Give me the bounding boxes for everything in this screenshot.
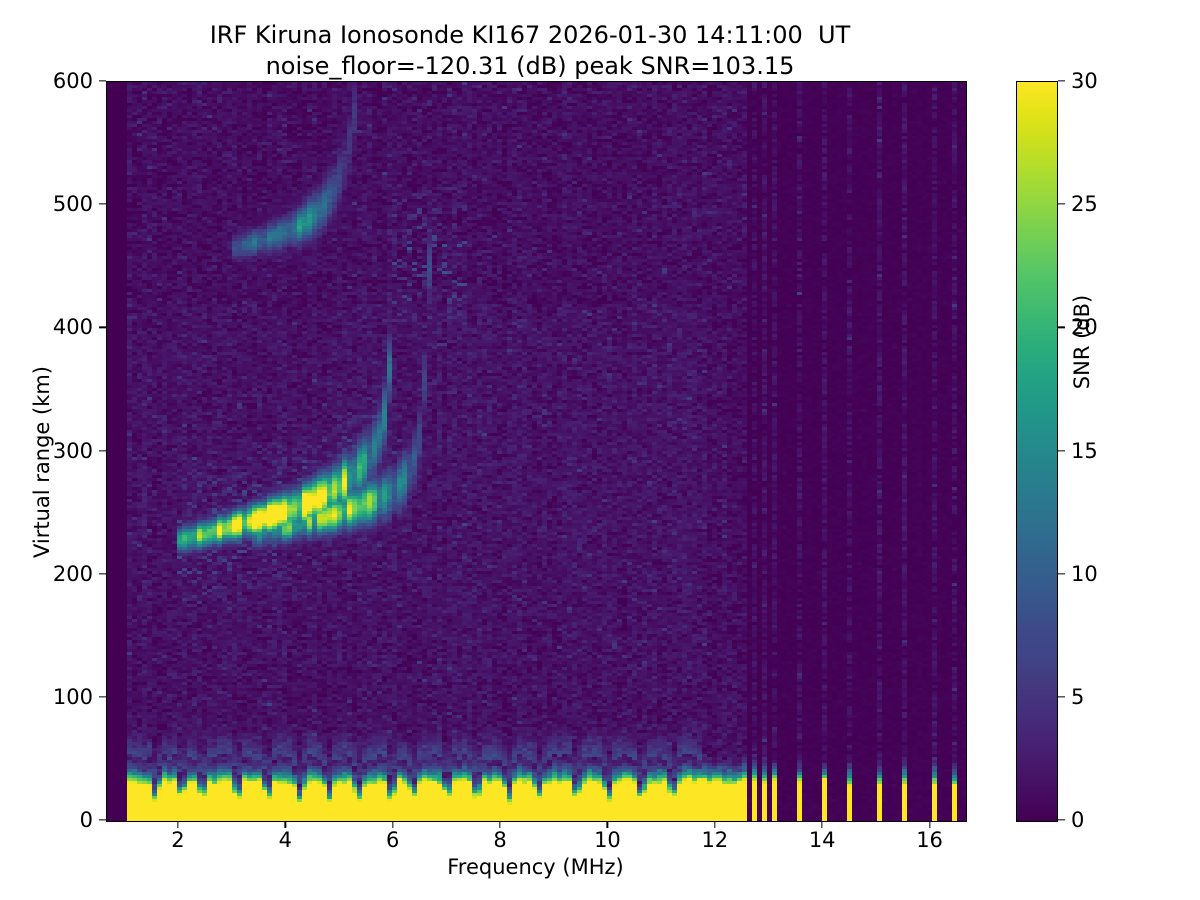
x-tick-mark [392, 821, 393, 828]
colorbar-tick-mark [1058, 450, 1065, 451]
x-tick-label: 10 [594, 828, 621, 852]
y-tick-mark [99, 573, 106, 574]
x-tick-label: 2 [171, 828, 184, 852]
x-tick-mark [285, 821, 286, 828]
colorbar-tick-mark [1058, 819, 1065, 820]
y-tick-label: 500 [53, 192, 93, 216]
ionogram-figure: IRF Kiruna Ionosonde KI167 2026-01-30 14… [0, 0, 1200, 900]
colorbar-tick-label: 0 [1071, 808, 1084, 832]
colorbar-tick-label: 20 [1071, 315, 1098, 339]
y-tick-label: 600 [53, 69, 93, 93]
colorbar-tick-label: 30 [1071, 69, 1098, 93]
x-tick-mark [929, 821, 930, 828]
y-tick-mark [99, 204, 106, 205]
x-tick-mark [607, 821, 608, 828]
ionogram-heatmap-canvas [107, 82, 966, 821]
y-tick-label: 200 [53, 562, 93, 586]
x-tick-mark [714, 821, 715, 828]
y-tick-label: 300 [53, 439, 93, 463]
colorbar-tick-mark [1058, 696, 1065, 697]
colorbar-gradient [1017, 82, 1057, 821]
colorbar-tick-mark [1058, 327, 1065, 328]
x-tick-mark [177, 821, 178, 828]
colorbar-tick-label: 5 [1071, 685, 1084, 709]
y-tick-label: 0 [80, 808, 93, 832]
y-tick-label: 400 [53, 315, 93, 339]
y-tick-mark [99, 696, 106, 697]
x-tick-label: 16 [916, 828, 943, 852]
colorbar-tick-label: 15 [1071, 439, 1098, 463]
y-tick-label: 100 [53, 685, 93, 709]
title-line-2: noise_floor=-120.31 (dB) peak SNR=103.15 [0, 51, 1060, 82]
x-tick-label: 8 [493, 828, 506, 852]
colorbar [1016, 81, 1058, 822]
y-tick-mark [99, 450, 106, 451]
x-tick-label: 12 [701, 828, 728, 852]
colorbar-tick-mark [1058, 573, 1065, 574]
title-line-1: IRF Kiruna Ionosonde KI167 2026-01-30 14… [0, 20, 1060, 51]
figure-title: IRF Kiruna Ionosonde KI167 2026-01-30 14… [0, 20, 1060, 81]
colorbar-tick-mark [1058, 204, 1065, 205]
y-axis-label: Virtual range (km) [30, 332, 54, 592]
x-axis-label: Frequency (MHz) [106, 855, 965, 879]
x-tick-mark [822, 821, 823, 828]
y-tick-mark [99, 819, 106, 820]
colorbar-tick-label: 10 [1071, 562, 1098, 586]
x-tick-label: 4 [279, 828, 292, 852]
x-tick-label: 6 [386, 828, 399, 852]
y-tick-mark [99, 80, 106, 81]
ionogram-plot-area [106, 81, 967, 822]
y-tick-mark [99, 327, 106, 328]
colorbar-label: SNR (dB) [1070, 222, 1094, 462]
colorbar-tick-label: 25 [1071, 192, 1098, 216]
x-tick-label: 14 [809, 828, 836, 852]
colorbar-tick-mark [1058, 80, 1065, 81]
x-tick-mark [499, 821, 500, 828]
